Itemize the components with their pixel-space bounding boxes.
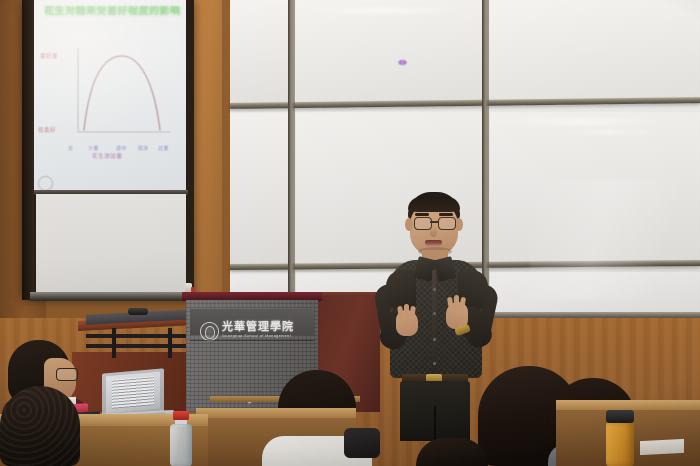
speaker-nose xyxy=(430,226,437,237)
podium-panel-seam xyxy=(190,340,314,341)
eyeglasses-icon xyxy=(438,217,456,230)
finger xyxy=(404,304,409,318)
speaker-eyebrow-left xyxy=(415,213,429,216)
table-leg xyxy=(112,328,116,358)
table-leg xyxy=(168,328,172,358)
whiteboard-glare xyxy=(310,8,480,13)
projected-slide: 花生对糖果受喜好程度的影响 喜好度 低喜好 无 少量 适中 较多 过量 花生添加… xyxy=(34,0,186,192)
lecture-hall-photo: 花生对糖果受喜好程度的影响 喜好度 低喜好 无 少量 适中 较多 过量 花生添加… xyxy=(0,0,700,466)
shirt-button xyxy=(433,362,436,365)
backpack xyxy=(344,428,380,458)
whiteboard-vertical-rail xyxy=(288,0,295,314)
whiteboard-panel xyxy=(490,0,700,104)
whiteboard-glare xyxy=(530,180,680,300)
speaker-hairline xyxy=(408,197,460,212)
podium-logo-english: Guanghua School of Management xyxy=(222,334,291,339)
equipment-item xyxy=(128,308,148,315)
whiteboard-panel xyxy=(296,0,484,104)
podium-logo-plate: 光華管理學院 Guanghua School of Management xyxy=(190,309,314,335)
speaker-left-hand xyxy=(396,310,418,336)
finger xyxy=(409,306,416,320)
slide-glare xyxy=(34,0,186,192)
water-bottle-cap[interactable] xyxy=(173,411,189,420)
speaker-shoulder-left xyxy=(386,270,416,310)
whiteboard-behind-screen xyxy=(36,194,186,294)
shirt-button xyxy=(433,312,436,315)
shirt-button xyxy=(433,288,436,291)
podium-logo-chinese: 光華管理學院 xyxy=(222,321,294,333)
thermos-cap[interactable] xyxy=(606,410,634,423)
orange-thermos[interactable] xyxy=(606,422,634,466)
speaker-shirt-placket xyxy=(432,270,436,374)
screen-bezel xyxy=(22,0,34,300)
whiteboard-panel xyxy=(230,0,290,104)
university-seal-icon xyxy=(200,322,219,341)
laser-pointer-dot xyxy=(398,60,407,65)
whiteboard-glare xyxy=(550,130,680,134)
laptop-document-content xyxy=(112,376,154,409)
speaker-mouth xyxy=(425,240,442,247)
speaker-eyebrow-right xyxy=(439,213,453,216)
student-foreground-curly-hair xyxy=(0,386,80,466)
finger xyxy=(459,297,466,312)
paper-on-desk xyxy=(640,439,684,455)
whiteboard-glare xyxy=(498,118,688,125)
equipment-table-frame xyxy=(86,328,192,354)
speaker-ear-right xyxy=(455,218,463,231)
speaker-ear-left xyxy=(405,218,413,231)
eyeglasses-icon xyxy=(56,368,78,381)
shirt-button xyxy=(433,338,436,341)
eyeglasses-bridge xyxy=(430,221,438,223)
screen-bottom-rail xyxy=(30,292,192,301)
water-bottle[interactable] xyxy=(170,424,192,466)
trouser-seam xyxy=(434,406,436,442)
whiteboard-panel xyxy=(230,112,290,264)
